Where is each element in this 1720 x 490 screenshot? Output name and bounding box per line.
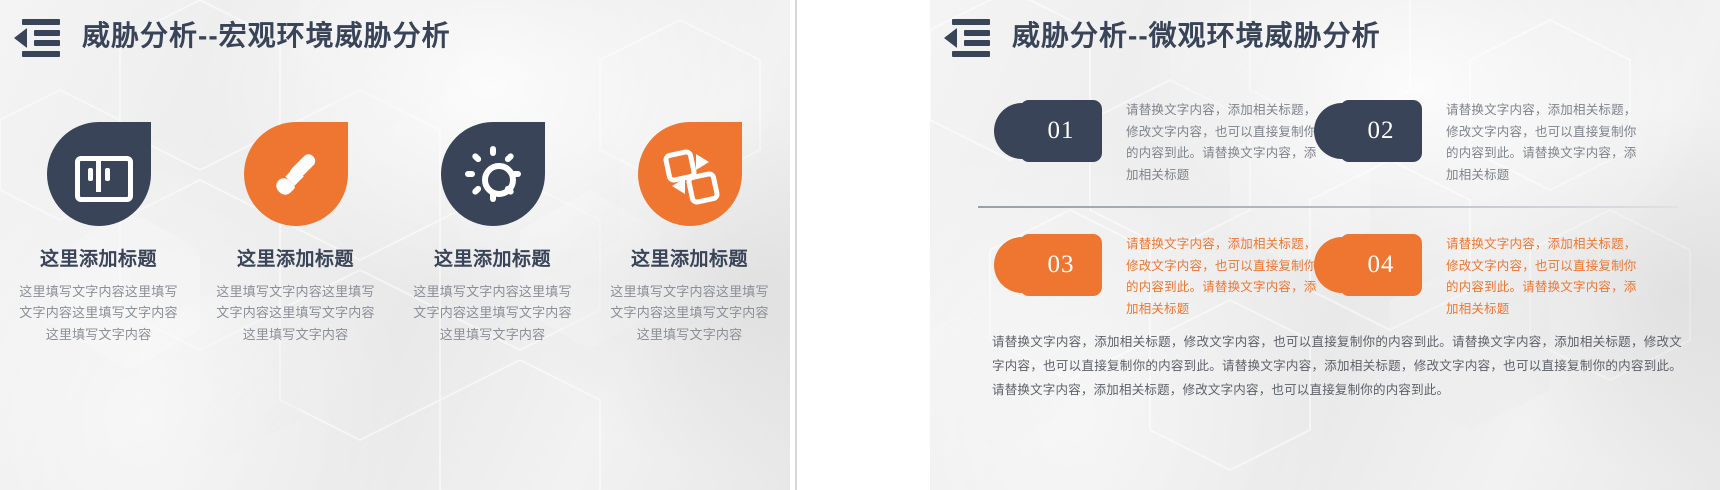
slide-left: 威胁分析--宏观环境威胁分析 这里添加标题 这里填写文字内容这里填写文字内容这里… <box>0 0 790 490</box>
badge-number: 04 <box>1368 251 1395 279</box>
sun-brightness-icon <box>465 146 521 202</box>
feature-card[interactable]: 这里添加标题 这里填写文字内容这里填写文字内容这里填写文字内容这里填写文字内容 <box>394 122 591 345</box>
badge-number: 02 <box>1368 117 1395 145</box>
card-title: 这里添加标题 <box>237 250 354 269</box>
badge-number: 03 <box>1048 251 1075 279</box>
number-badge: 02 <box>1340 100 1422 162</box>
numbered-item-list: 01 请替换文字内容，添加相关标题，修改文字内容，也可以直接复制你的内容到此。请… <box>930 0 1720 490</box>
collapse-left-icon <box>944 19 990 53</box>
item-text: 请替换文字内容，添加相关标题，修改文字内容，也可以直接复制你的内容到此。请替换文… <box>1446 234 1641 320</box>
card-title: 这里添加标题 <box>434 250 551 269</box>
card-body: 这里填写文字内容这里填写文字内容这里填写文字内容这里填写文字内容 <box>606 281 774 345</box>
slide-gutter <box>790 0 930 490</box>
slide-divider <box>795 0 797 490</box>
number-badge: 03 <box>1020 234 1102 296</box>
leaf-badge-2 <box>244 122 348 226</box>
right-header: 威胁分析--微观环境威胁分析 <box>944 0 1381 72</box>
card-body: 这里填写文字内容这里填写文字内容这里填写文字内容这里填写文字内容 <box>409 281 577 345</box>
number-badge: 01 <box>1020 100 1102 162</box>
collapse-left-icon <box>14 19 60 53</box>
numbered-item[interactable]: 01 请替换文字内容，添加相关标题，修改文字内容，也可以直接复制你的内容到此。请… <box>1020 100 1321 186</box>
feature-card[interactable]: 这里添加标题 这里填写文字内容这里填写文字内容这里填写文字内容这里填写文字内容 <box>0 122 197 345</box>
slide-right: 威胁分析--微观环境威胁分析 01 请替换文字内容，添加相关标题，修改文字内容，… <box>930 0 1720 490</box>
numbered-item[interactable]: 02 请替换文字内容，添加相关标题，修改文字内容，也可以直接复制你的内容到此。请… <box>1340 100 1641 186</box>
paint-brush-icon <box>268 146 324 202</box>
feature-card[interactable]: 这里添加标题 这里填写文字内容这里填写文字内容这里填写文字内容这里填写文字内容 <box>197 122 394 345</box>
page-title: 威胁分析--微观环境威胁分析 <box>1012 22 1381 50</box>
leaf-badge-3 <box>441 122 545 226</box>
card-body: 这里填写文字内容这里填写文字内容这里填写文字内容这里填写文字内容 <box>15 281 183 345</box>
feature-card[interactable]: 这里添加标题 这里填写文字内容这里填写文字内容这里填写文字内容这里填写文字内容 <box>591 122 788 345</box>
footer-paragraph: 请替换文字内容，添加相关标题，修改文字内容，也可以直接复制你的内容到此。请替换文… <box>992 330 1682 402</box>
leaf-badge-1 <box>47 122 151 226</box>
item-text: 请替换文字内容，添加相关标题，修改文字内容，也可以直接复制你的内容到此。请替换文… <box>1446 100 1641 186</box>
card-title: 这里添加标题 <box>40 250 157 269</box>
leaf-badge-4 <box>638 122 742 226</box>
item-text: 请替换文字内容，添加相关标题，修改文字内容，也可以直接复制你的内容到此。请替换文… <box>1126 234 1321 320</box>
numbered-item[interactable]: 04 请替换文字内容，添加相关标题，修改文字内容，也可以直接复制你的内容到此。请… <box>1340 234 1641 320</box>
section-divider <box>978 206 1678 208</box>
panel-switch-icon <box>71 146 127 202</box>
slide-pair: 威胁分析--宏观环境威胁分析 这里添加标题 这里填写文字内容这里填写文字内容这里… <box>0 0 1720 490</box>
card-title: 这里添加标题 <box>631 250 748 269</box>
left-header: 威胁分析--宏观环境威胁分析 <box>14 0 451 72</box>
number-badge: 04 <box>1340 234 1422 296</box>
item-text: 请替换文字内容，添加相关标题，修改文字内容，也可以直接复制你的内容到此。请替换文… <box>1126 100 1321 186</box>
card-body: 这里填写文字内容这里填写文字内容这里填写文字内容这里填写文字内容 <box>212 281 380 345</box>
numbered-item[interactable]: 03 请替换文字内容，添加相关标题，修改文字内容，也可以直接复制你的内容到此。请… <box>1020 234 1321 320</box>
badge-number: 01 <box>1048 117 1075 145</box>
abstract-nodes-icon <box>662 146 718 202</box>
feature-card-list: 这里添加标题 这里填写文字内容这里填写文字内容这里填写文字内容这里填写文字内容 … <box>0 122 790 345</box>
page-title: 威胁分析--宏观环境威胁分析 <box>82 22 451 50</box>
